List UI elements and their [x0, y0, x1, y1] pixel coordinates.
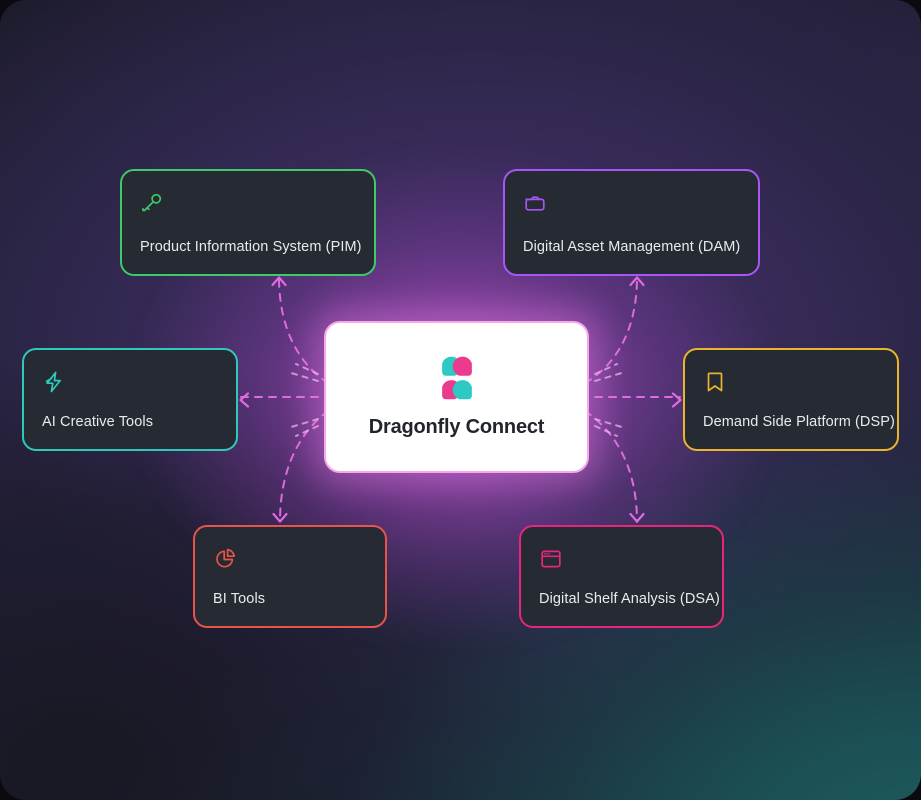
diagram-canvas: Dragonfly Connect Product Information Sy…	[0, 0, 921, 800]
connector-arrowhead	[273, 278, 286, 286]
connector-fan-accent	[296, 426, 318, 436]
hub-card-dragonfly-connect[interactable]: Dragonfly Connect	[324, 321, 589, 473]
connector-fan-accent	[595, 364, 617, 374]
folder-icon-wrapper	[523, 191, 740, 215]
hub-title: Dragonfly Connect	[369, 416, 545, 439]
connector-fan-accent	[296, 364, 318, 374]
node-label-ai-creative: AI Creative Tools	[42, 413, 218, 431]
key-icon	[140, 191, 164, 215]
folder-icon	[523, 191, 547, 215]
connector-fan-accent	[595, 419, 625, 428]
connector-path	[585, 411, 637, 522]
pie-chart-icon-wrapper	[213, 547, 367, 571]
connector-path	[280, 411, 328, 522]
connector-path	[279, 277, 328, 383]
browser-window-icon	[539, 547, 563, 571]
node-card-dsp[interactable]: Demand Side Platform (DSP)	[683, 348, 899, 451]
connector-fan-accent	[288, 372, 318, 381]
node-label-bi: BI Tools	[213, 590, 367, 608]
node-label-pim: Product Information System (PIM)	[140, 238, 356, 256]
connector-arrowhead	[274, 514, 287, 522]
node-card-pim[interactable]: Product Information System (PIM)	[120, 169, 376, 276]
zap-icon-wrapper	[42, 370, 218, 394]
node-card-bi[interactable]: BI Tools	[193, 525, 387, 628]
connector-fan-accent	[288, 419, 318, 428]
pie-chart-icon	[213, 547, 237, 571]
browser-window-icon-wrapper	[539, 547, 704, 571]
connector-arrowhead	[631, 514, 644, 522]
node-label-dsa: Digital Shelf Analysis (DSA)	[539, 590, 704, 608]
node-card-dam[interactable]: Digital Asset Management (DAM)	[503, 169, 760, 276]
connector-arrowhead	[673, 394, 681, 407]
bookmark-icon	[703, 370, 727, 394]
connector-fan-accent	[595, 426, 617, 436]
key-icon-wrapper	[140, 191, 356, 215]
connector-path	[585, 277, 637, 383]
bookmark-icon-wrapper	[703, 370, 879, 394]
node-card-dsa[interactable]: Digital Shelf Analysis (DSA)	[519, 525, 724, 628]
connector-fan-accent	[595, 372, 625, 381]
connector-arrowhead	[631, 278, 644, 286]
zap-icon	[42, 370, 66, 394]
node-label-dam: Digital Asset Management (DAM)	[523, 238, 740, 256]
dragonfly-clover-logo	[434, 356, 480, 402]
node-card-ai-creative[interactable]: AI Creative Tools	[22, 348, 238, 451]
connector-arrowhead	[241, 394, 249, 407]
node-label-dsp: Demand Side Platform (DSP)	[703, 413, 879, 431]
